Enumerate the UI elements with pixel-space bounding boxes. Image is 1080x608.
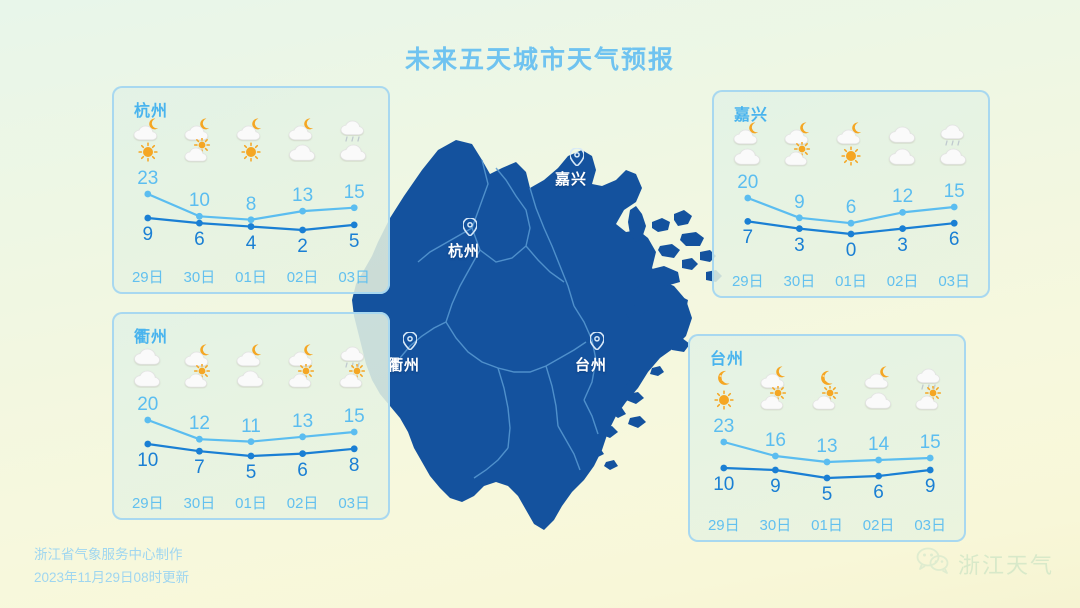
weather-icon-group [225,342,277,398]
weather-panel-jiaxing: 嘉兴20729日9330日6001日12302日15603日 [712,90,990,298]
weather-icon-group [328,116,380,172]
forecast-date-label: 30日 [774,270,826,291]
forecast-day-column: 15603日 [928,120,980,292]
high-temp-value: 15 [328,406,380,428]
forecast-date-label: 30日 [750,514,802,535]
high-temp-value: 23 [698,416,750,438]
low-temp-value: 3 [877,235,929,257]
low-temp-value: 8 [328,455,380,477]
weather-icon-group [698,364,750,420]
forecast-day-column: 12730日 [174,342,226,514]
forecast-date-label: 02日 [877,270,929,291]
high-temp-value: 23 [122,168,174,190]
high-temp-value: 9 [774,192,826,214]
footer-line-2: 2023年11月29日08时更新 [34,567,189,590]
panel-edge [734,296,968,298]
sun-cloud-icon [286,364,320,392]
panel-corner [368,86,390,108]
forecast-date-label: 30日 [174,492,226,513]
high-temp-value: 12 [877,186,929,208]
sun-icon [234,138,268,166]
low-temp-value: 7 [722,227,774,249]
low-temp-value: 6 [277,460,329,482]
panel-edge [134,86,368,88]
panel-edge [688,356,690,520]
cloud-icon [731,142,765,170]
weather-icon-group [225,116,277,172]
map-label-quzhou: 衢州 [388,354,420,375]
weather-icon-group [904,364,956,420]
forecast-date-label: 01日 [225,492,277,513]
cloud-icon [937,142,971,170]
weather-icon-group [328,342,380,398]
map-pin-taizhou [590,332,604,350]
weather-icon-group [877,120,929,176]
forecast-date-label: 01日 [225,266,277,287]
forecast-day-column: 201029日 [122,342,174,514]
sun-cloud-icon [182,364,216,392]
panel-corner [712,90,734,112]
low-temp-value: 5 [328,231,380,253]
forecast-day-column: 16930日 [750,364,802,536]
high-temp-value: 8 [225,194,277,216]
page-title: 未来五天城市天气预报 [0,40,1080,76]
low-temp-value: 7 [174,457,226,479]
map-pin-quzhou [403,332,417,350]
high-temp-value: 12 [174,413,226,435]
panel-edge [112,108,114,272]
forecast-day-column: 13602日 [277,342,329,514]
forecast-day-column: 8401日 [225,116,277,288]
panel-edge [112,334,114,498]
cloud-icon [286,138,320,166]
forecast-day-column: 15803日 [328,342,380,514]
forecast-day-column: 23929日 [122,116,174,288]
panel-edge [388,108,390,272]
forecast-day-column: 13501日 [801,364,853,536]
forecast-date-label: 03日 [928,270,980,291]
sun-icon [131,138,165,166]
low-temp-value: 6 [174,229,226,251]
weather-icon-group [825,120,877,176]
panel-edge [712,112,714,276]
low-temp-value: 9 [904,476,956,498]
weather-icon-group [277,342,329,398]
forecast-day-column: 6001日 [825,120,877,292]
sun-cloud-icon [782,142,816,170]
low-temp-value: 6 [853,482,905,504]
forecast-day-column: 15903日 [904,364,956,536]
weather-icon-group [122,116,174,172]
forecast-columns: 201029日12730日11501日13602日15803日 [122,342,380,514]
sun-cloud-icon [913,386,947,414]
weather-icon-group [277,116,329,172]
low-temp-value: 9 [750,476,802,498]
low-temp-value: 4 [225,233,277,255]
low-temp-value: 10 [698,474,750,496]
forecast-date-label: 30日 [174,266,226,287]
sun-icon [707,386,741,414]
infographic-root: 未来五天城市天气预报 [0,0,1080,608]
high-temp-value: 15 [928,181,980,203]
sun-cloud-icon [182,138,216,166]
panel-corner [368,312,390,334]
weather-panel-quzhou: 衢州201029日12730日11501日13602日15803日 [112,312,390,520]
high-temp-value: 15 [328,182,380,204]
low-temp-value: 2 [277,236,329,258]
forecast-day-column: 14602日 [853,364,905,536]
weather-panel-taizhou: 台州231029日16930日13501日14602日15903日 [688,334,966,542]
forecast-columns: 23929日10630日8401日13202日15503日 [122,116,380,288]
forecast-date-label: 01日 [801,514,853,535]
forecast-date-label: 03日 [328,266,380,287]
sun-icon [834,142,868,170]
high-temp-value: 20 [722,172,774,194]
forecast-date-label: 02日 [277,266,329,287]
map-pin-jiaxing [570,148,584,166]
high-temp-value: 20 [122,394,174,416]
footer-credit: 浙江省气象服务中心制作 2023年11月29日08时更新 [34,544,189,590]
panel-edge [710,540,944,542]
high-temp-value: 10 [174,190,226,212]
low-temp-value: 3 [774,235,826,257]
low-temp-value: 10 [122,450,174,472]
weather-icon-group [122,342,174,398]
high-temp-value: 6 [825,197,877,219]
brand-watermark: 浙江天气 [916,547,1054,580]
forecast-day-column: 231029日 [698,364,750,536]
cloud-icon [131,364,165,392]
brand-label: 浙江天气 [958,548,1054,580]
low-temp-value: 6 [928,229,980,251]
forecast-date-label: 03日 [328,492,380,513]
low-temp-value: 0 [825,240,877,262]
panel-edge [134,518,368,520]
sun-cloud-icon [758,386,792,414]
high-temp-value: 15 [904,432,956,454]
low-temp-value: 5 [225,462,277,484]
panel-corner [112,86,134,108]
weather-icon-group [801,364,853,420]
panel-corner [944,334,966,356]
panel-edge [710,334,944,336]
forecast-day-column: 11501日 [225,342,277,514]
map-label-jiaxing: 嘉兴 [555,168,587,189]
panel-edge [964,356,966,520]
panel-edge [388,334,390,498]
forecast-date-label: 29日 [722,270,774,291]
weather-icon-group [928,120,980,176]
panel-corner [112,312,134,334]
sun-cloud-icon [337,364,371,392]
panel-edge [134,292,368,294]
high-temp-value: 13 [277,185,329,207]
weather-icon-group [174,342,226,398]
weather-icon-group [174,116,226,172]
forecast-date-label: 03日 [904,514,956,535]
wechat-icon [916,547,950,580]
footer-line-1: 浙江省气象服务中心制作 [34,544,189,567]
map-label-hangzhou: 杭州 [448,240,480,261]
cloud-icon [886,142,920,170]
map-pin-hangzhou [463,218,477,236]
high-temp-value: 13 [277,411,329,433]
cloud-icon [337,138,371,166]
forecast-date-label: 29日 [698,514,750,535]
forecast-day-column: 20729日 [722,120,774,292]
low-temp-value: 5 [801,484,853,506]
high-temp-value: 14 [853,434,905,456]
forecast-day-column: 13202日 [277,116,329,288]
weather-icon-group [853,364,905,420]
cloud-icon [234,364,268,392]
high-temp-value: 13 [801,436,853,458]
forecast-date-label: 29日 [122,266,174,287]
low-temp-value: 9 [122,224,174,246]
panel-corner [968,90,990,112]
zhejiang-map: 嘉兴 杭州 衢州 台州 [330,110,750,570]
forecast-date-label: 29日 [122,492,174,513]
forecast-day-column: 10630日 [174,116,226,288]
weather-icon-group [774,120,826,176]
forecast-date-label: 02日 [853,514,905,535]
panel-edge [988,112,990,276]
cloud-icon [862,386,896,414]
forecast-date-label: 01日 [825,270,877,291]
weather-icon-group [750,364,802,420]
panel-edge [734,90,968,92]
panel-corner [688,334,710,356]
forecast-day-column: 12302日 [877,120,929,292]
weather-panel-hangzhou: 杭州23929日10630日8401日13202日15503日 [112,86,390,294]
forecast-columns: 20729日9330日6001日12302日15603日 [722,120,980,292]
weather-icon-group [722,120,774,176]
map-label-taizhou: 台州 [575,354,607,375]
high-temp-value: 11 [225,416,277,438]
forecast-date-label: 02日 [277,492,329,513]
forecast-columns: 231029日16930日13501日14602日15903日 [698,364,956,536]
forecast-day-column: 15503日 [328,116,380,288]
panel-edge [134,312,368,314]
sun-cloud-icon [810,386,844,414]
forecast-day-column: 9330日 [774,120,826,292]
high-temp-value: 16 [750,430,802,452]
